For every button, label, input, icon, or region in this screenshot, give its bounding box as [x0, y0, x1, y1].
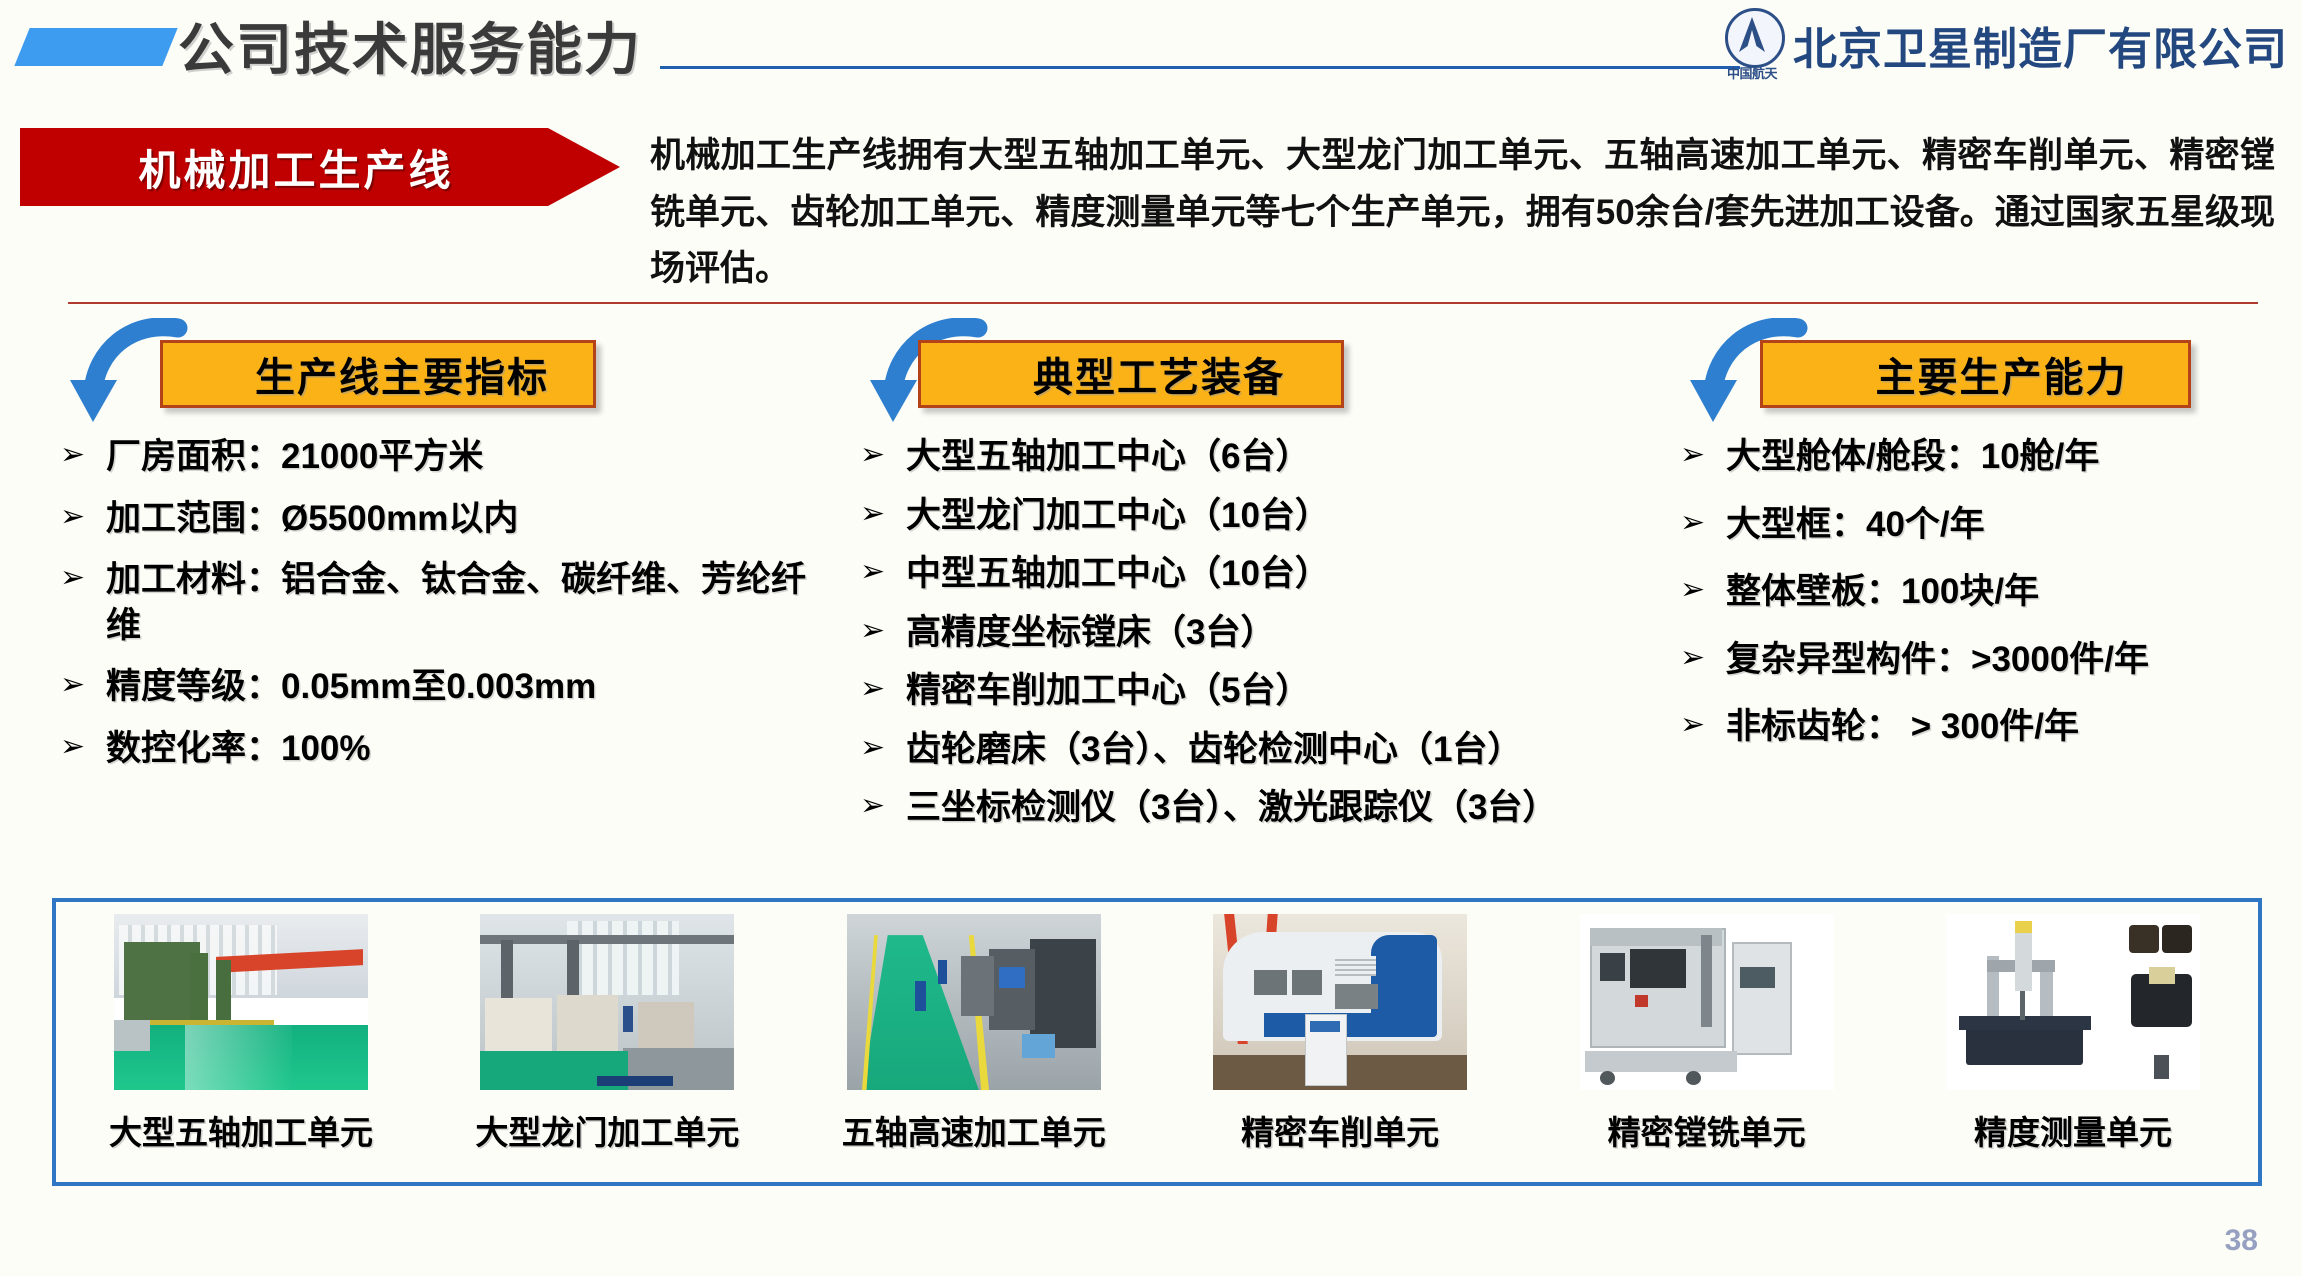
- bullet-chevron-icon: ➢: [1680, 434, 1726, 475]
- list-item: ➢ 精度等级：0.05mm至0.003mm: [60, 664, 820, 710]
- column-1-list: ➢ 厂房面积：21000平方米 ➢ 加工范围：Ø5500mm以内 ➢ 加工材料：…: [60, 434, 820, 771]
- bullet-chevron-icon: ➢: [60, 557, 106, 598]
- column-3-heading-label: 主要生产能力: [1763, 345, 2188, 403]
- column-2-heading-label: 典型工艺装备: [921, 345, 1341, 403]
- company-logo: 中国航天 北京卫星制造厂有限公司: [1721, 8, 2288, 82]
- gallery-cell: 大型龙门加工单元: [432, 914, 782, 1154]
- section-banner-label: 机械加工生产线: [138, 137, 453, 198]
- column-1-heading-box: 生产线主要指标: [160, 340, 596, 408]
- bullet-chevron-icon: ➢: [860, 551, 906, 592]
- column-production-capacity: 主要生产能力 ➢ 大型舱体/舱段：10舱/年 ➢ 大型框：40个/年 ➢ 整体壁…: [1680, 330, 2280, 772]
- bullet-chevron-icon: ➢: [60, 664, 106, 705]
- column-1-heading: 生产线主要指标: [60, 330, 820, 416]
- section-divider: [68, 302, 2258, 304]
- list-item-label: 大型舱体/舱段：10舱/年: [1726, 434, 2280, 480]
- list-item-label: 齿轮磨床（3台）、齿轮检测中心（1台）: [906, 727, 1670, 773]
- list-item: ➢ 复杂异型构件：>3000件/年: [1680, 637, 2280, 683]
- slide-root: 公司技术服务能力 中国航天 北京卫星制造厂有限公司 机械加工生产线 机械加工生产…: [0, 0, 2302, 1276]
- section-banner: 机械加工生产线: [20, 128, 620, 206]
- bullet-chevron-icon: ➢: [860, 668, 906, 709]
- bullet-chevron-icon: ➢: [1680, 569, 1726, 610]
- list-item: ➢ 大型龙门加工中心（10台）: [860, 493, 1670, 539]
- list-item: ➢ 中型五轴加工中心（10台）: [860, 551, 1670, 597]
- list-item-label: 高精度坐标镗床（3台）: [906, 610, 1670, 656]
- list-item-label: 数控化率：100%: [106, 726, 820, 772]
- list-item: ➢ 大型框：40个/年: [1680, 502, 2280, 548]
- list-item: ➢ 大型舱体/舱段：10舱/年: [1680, 434, 2280, 480]
- photo-large-five-axis-unit: [114, 914, 368, 1090]
- photo-caption: 大型五轴加工单元: [109, 1106, 373, 1154]
- casc-logo-icon: 中国航天: [1721, 8, 1783, 82]
- logo-arrow-glyph: [1721, 8, 1783, 66]
- bullet-chevron-icon: ➢: [860, 434, 906, 475]
- header-divider-line: [660, 66, 1740, 69]
- list-item-label: 加工范围：Ø5500mm以内: [106, 496, 820, 542]
- list-item: ➢ 加工材料：铝合金、钛合金、碳纤维、芳纶纤维: [60, 557, 820, 648]
- column-production-metrics: 生产线主要指标 ➢ 厂房面积：21000平方米 ➢ 加工范围：Ø5500mm以内…: [60, 330, 820, 787]
- list-item: ➢ 三坐标检测仪（3台）、激光跟踪仪（3台）: [860, 785, 1670, 831]
- list-item-label: 中型五轴加工中心（10台）: [906, 551, 1670, 597]
- list-item: ➢ 精密车削加工中心（5台）: [860, 668, 1670, 714]
- list-item-label: 加工材料：铝合金、钛合金、碳纤维、芳纶纤维: [106, 557, 820, 648]
- photo-precision-boring-milling-unit: [1580, 914, 1834, 1090]
- logo-subtitle: 中国航天: [1721, 63, 1783, 82]
- page-number: 38: [2225, 1224, 2258, 1258]
- gallery-cell: 精密车削单元: [1165, 914, 1515, 1154]
- bullet-chevron-icon: ➢: [60, 434, 106, 475]
- column-2-list: ➢ 大型五轴加工中心（6台） ➢ 大型龙门加工中心（10台） ➢ 中型五轴加工中…: [860, 434, 1670, 831]
- bullet-chevron-icon: ➢: [60, 726, 106, 767]
- bullet-chevron-icon: ➢: [1680, 637, 1726, 678]
- photo-five-axis-high-speed-unit: [847, 914, 1101, 1090]
- column-typical-equipment: 典型工艺装备 ➢ 大型五轴加工中心（6台） ➢ 大型龙门加工中心（10台） ➢ …: [860, 330, 1670, 844]
- column-2-heading: 典型工艺装备: [860, 330, 1670, 416]
- list-item-label: 大型龙门加工中心（10台）: [906, 493, 1670, 539]
- list-item: ➢ 大型五轴加工中心（6台）: [860, 434, 1670, 480]
- list-item-label: 非标齿轮： > 300件/年: [1726, 704, 2280, 750]
- list-item-label: 大型五轴加工中心（6台）: [906, 434, 1670, 480]
- photo-caption: 精密车削单元: [1241, 1106, 1439, 1154]
- list-item: ➢ 厂房面积：21000平方米: [60, 434, 820, 480]
- photo-precision-turning-unit: [1213, 914, 1467, 1090]
- gallery-cell: 精度测量单元: [1898, 914, 2248, 1154]
- bullet-chevron-icon: ➢: [860, 785, 906, 826]
- photo-gallery: 大型五轴加工单元 大型龙门加工单元 五轴高速加工单元: [52, 898, 2262, 1186]
- column-3-heading: 主要生产能力: [1680, 330, 2280, 416]
- gallery-cell: 大型五轴加工单元: [66, 914, 416, 1154]
- photo-caption: 精密镗铣单元: [1608, 1106, 1806, 1154]
- list-item: ➢ 整体壁板：100块/年: [1680, 569, 2280, 615]
- slide-header: 公司技术服务能力 中国航天 北京卫星制造厂有限公司: [0, 0, 2302, 92]
- gallery-cell: 五轴高速加工单元: [799, 914, 1149, 1154]
- list-item: ➢ 数控化率：100%: [60, 726, 820, 772]
- column-2-heading-box: 典型工艺装备: [918, 340, 1344, 408]
- intro-paragraph: 机械加工生产线拥有大型五轴加工单元、大型龙门加工单元、五轴高速加工单元、精密车削…: [650, 128, 2275, 298]
- bullet-chevron-icon: ➢: [860, 727, 906, 768]
- bullet-chevron-icon: ➢: [860, 610, 906, 651]
- list-item-label: 三坐标检测仪（3台）、激光跟踪仪（3台）: [906, 785, 1670, 831]
- list-item: ➢ 齿轮磨床（3台）、齿轮检测中心（1台）: [860, 727, 1670, 773]
- photo-caption: 五轴高速加工单元: [842, 1106, 1106, 1154]
- gallery-cell: 精密镗铣单元: [1532, 914, 1882, 1154]
- column-1-heading-label: 生产线主要指标: [163, 345, 593, 403]
- photo-caption: 精度测量单元: [1974, 1106, 2172, 1154]
- list-item-label: 精密车削加工中心（5台）: [906, 668, 1670, 714]
- column-3-list: ➢ 大型舱体/舱段：10舱/年 ➢ 大型框：40个/年 ➢ 整体壁板：100块/…: [1680, 434, 2280, 750]
- photo-precision-measurement-unit: [1946, 914, 2200, 1090]
- bullet-chevron-icon: ➢: [60, 496, 106, 537]
- bullet-chevron-icon: ➢: [860, 493, 906, 534]
- list-item-label: 精度等级：0.05mm至0.003mm: [106, 664, 820, 710]
- list-item-label: 大型框：40个/年: [1726, 502, 2280, 548]
- photo-caption: 大型龙门加工单元: [475, 1106, 739, 1154]
- photo-large-gantry-unit: [480, 914, 734, 1090]
- column-3-heading-box: 主要生产能力: [1760, 340, 2191, 408]
- list-item-label: 整体壁板：100块/年: [1726, 569, 2280, 615]
- list-item: ➢ 加工范围：Ø5500mm以内: [60, 496, 820, 542]
- list-item-label: 复杂异型构件：>3000件/年: [1726, 637, 2280, 683]
- header-accent-parallelogram: [14, 28, 177, 66]
- page-title: 公司技术服务能力: [178, 5, 642, 86]
- list-item-label: 厂房面积：21000平方米: [106, 434, 820, 480]
- list-item: ➢ 高精度坐标镗床（3台）: [860, 610, 1670, 656]
- company-name: 北京卫星制造厂有限公司: [1793, 13, 2288, 77]
- bullet-chevron-icon: ➢: [1680, 502, 1726, 543]
- bullet-chevron-icon: ➢: [1680, 704, 1726, 745]
- list-item: ➢ 非标齿轮： > 300件/年: [1680, 704, 2280, 750]
